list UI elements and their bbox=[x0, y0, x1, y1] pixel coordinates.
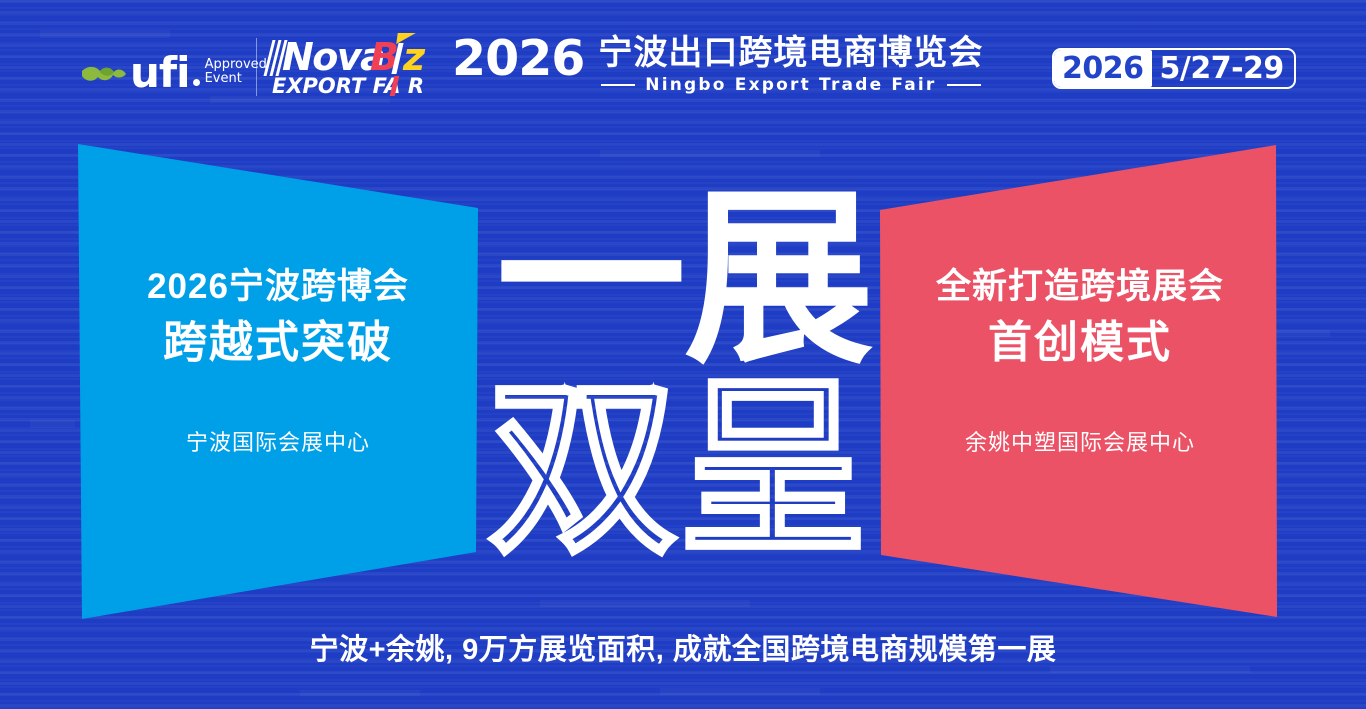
right-panel-subheading: 首创模式 bbox=[880, 315, 1280, 371]
left-panel-subheading: 跨越式突破 bbox=[78, 315, 478, 371]
novabiz-subtitle: EXPORT FA R bbox=[272, 74, 424, 98]
event-title-chinese: 宁波出口跨境电商博览会 bbox=[598, 34, 983, 72]
left-panel-content: 2026宁波跨博会 跨越式突破 宁波国际会展中心 bbox=[78, 265, 478, 457]
title-rule-left bbox=[601, 84, 635, 86]
event-date-range: 5/27-29 bbox=[1152, 50, 1294, 87]
ufi-approved-line1: Approved bbox=[205, 58, 267, 72]
ufi-logo[interactable]: ufi Approved Event bbox=[80, 44, 267, 92]
novabiz-nova-text: Nova bbox=[282, 35, 384, 79]
ufi-dot-icon bbox=[193, 79, 200, 86]
right-panel-venue: 余姚中塑国际会展中心 bbox=[880, 429, 1280, 457]
novabiz-logo[interactable]: Nova B z EXPORT FA R bbox=[266, 38, 436, 100]
ufi-approved-line2: Event bbox=[205, 72, 267, 86]
hero-slogan-line2: 双呈 bbox=[488, 375, 868, 565]
event-title-english: Ningbo Export Trade Fair bbox=[645, 75, 936, 95]
right-panel-heading: 全新打造跨境展会 bbox=[880, 265, 1280, 309]
ufi-leaf-icon bbox=[80, 63, 128, 89]
ufi-leaf-svg bbox=[80, 63, 128, 89]
header-divider bbox=[256, 38, 257, 96]
event-title: 2026 宁波出口跨境电商博览会 Ningbo Export Trade Fai… bbox=[452, 34, 983, 95]
hero-slogan-line1: 一展 bbox=[496, 185, 872, 375]
ufi-wordmark: ufi bbox=[130, 54, 190, 92]
event-date-badge[interactable]: 2026 5/27-29 bbox=[1052, 48, 1296, 89]
banner-canvas: 一展 双呈 2026宁波跨博会 跨越式突破 宁波国际会展中心 全新打造跨境展会 … bbox=[0, 0, 1366, 709]
event-date-year: 2026 bbox=[1054, 50, 1152, 87]
novabiz-z-text: z bbox=[403, 35, 425, 79]
left-panel-venue: 宁波国际会展中心 bbox=[78, 429, 478, 457]
left-panel-heading: 2026宁波跨博会 bbox=[78, 265, 478, 309]
hero-slogan: 一展 双呈 bbox=[480, 185, 900, 570]
ufi-approved-label: Approved Event bbox=[205, 58, 267, 86]
header-bar: ufi Approved Event Nova B z EXPORT FA R bbox=[0, 0, 1366, 125]
title-rule-right bbox=[947, 84, 981, 86]
bottom-tagline: 宁波+余姚, 9万方展览面积, 成就全国跨境电商规模第一展 bbox=[0, 626, 1366, 668]
event-title-year: 2026 bbox=[452, 34, 584, 84]
right-panel-content: 全新打造跨境展会 首创模式 余姚中塑国际会展中心 bbox=[880, 265, 1280, 457]
